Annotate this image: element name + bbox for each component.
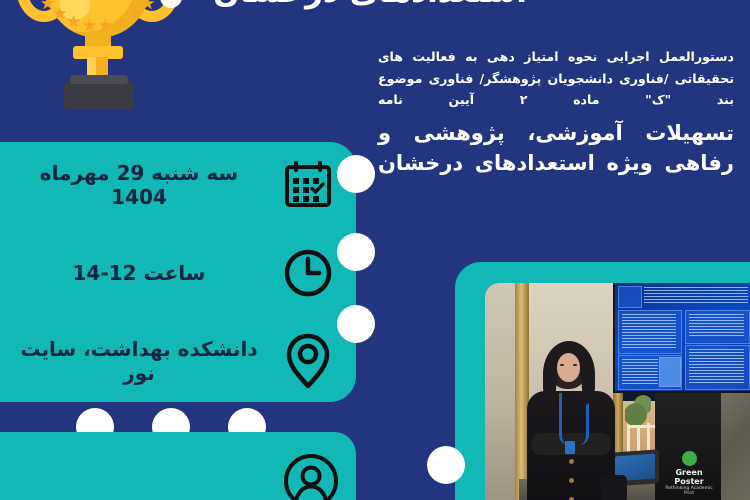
right-text-column: دستورالعمل اجرایی نحوه امتیاز دهی به فعا…	[378, 46, 734, 179]
photo-green-poster-branding: Green Poster Rethinking Academic Print	[661, 451, 717, 497]
location-pin-icon	[278, 331, 338, 391]
page-title: استعدادهای درخشان	[140, 0, 600, 10]
photo-corner-dot	[427, 446, 465, 484]
green-leaf-icon	[682, 451, 697, 466]
headline-line-2: رفاهی ویژه استعدادهای درخشان	[378, 149, 734, 179]
photo-monitor	[613, 283, 750, 393]
event-details-card: سه شنبه 29 مهرماه 1404 ساعت 12-14 دانشکد…	[0, 142, 356, 402]
photo-person-face	[557, 353, 580, 382]
person-icon	[282, 452, 340, 500]
trophy-icon: ★ ★ ★ ★ ★ ★ ★ ★ ★	[28, 0, 168, 114]
headline-line-1: تسهیلات آموزشی، پژوهشی و	[378, 119, 734, 149]
detail-time-label: ساعت 12-14	[0, 261, 264, 285]
detail-row-date: سه شنبه 29 مهرماه 1404	[0, 154, 338, 216]
green-poster-title: Green Poster	[661, 468, 717, 486]
photo-handbag	[601, 475, 627, 500]
photo-scientific-poster	[615, 283, 750, 391]
detail-date-label: سه شنبه 29 مهرماه 1404	[0, 161, 264, 209]
detail-location-label: دانشکده بهداشت، سایت نور	[0, 337, 264, 385]
clock-icon	[278, 243, 338, 303]
poster-canvas: ★ ★ ★ ★ ★ ★ ★ ★ ★ استعدادهای درخشان دستو…	[0, 0, 750, 500]
edge-dot-1	[337, 155, 375, 193]
photo-badge	[565, 441, 575, 454]
detail-row-time: ساعت 12-14	[0, 242, 338, 304]
photo-wall	[485, 283, 519, 500]
calendar-icon	[278, 155, 338, 215]
presenter-photo: Green Poster Rethinking Academic Print	[485, 283, 750, 500]
green-poster-subtitle: Rethinking Academic Print	[661, 486, 717, 496]
photo-coat-buttons	[569, 459, 574, 500]
intro-paragraph: دستورالعمل اجرایی نحوه امتیاز دهی به فعا…	[378, 46, 734, 111]
photo-stone-wall	[717, 379, 750, 500]
headline-block: تسهیلات آموزشی، پژوهشی و رفاهی ویژه استع…	[378, 119, 734, 179]
detail-row-location: دانشکده بهداشت، سایت نور	[0, 330, 338, 392]
photo-plant	[625, 391, 651, 425]
edge-dot-3	[337, 305, 375, 343]
trophy-base	[64, 82, 134, 110]
edge-dot-2	[337, 233, 375, 271]
